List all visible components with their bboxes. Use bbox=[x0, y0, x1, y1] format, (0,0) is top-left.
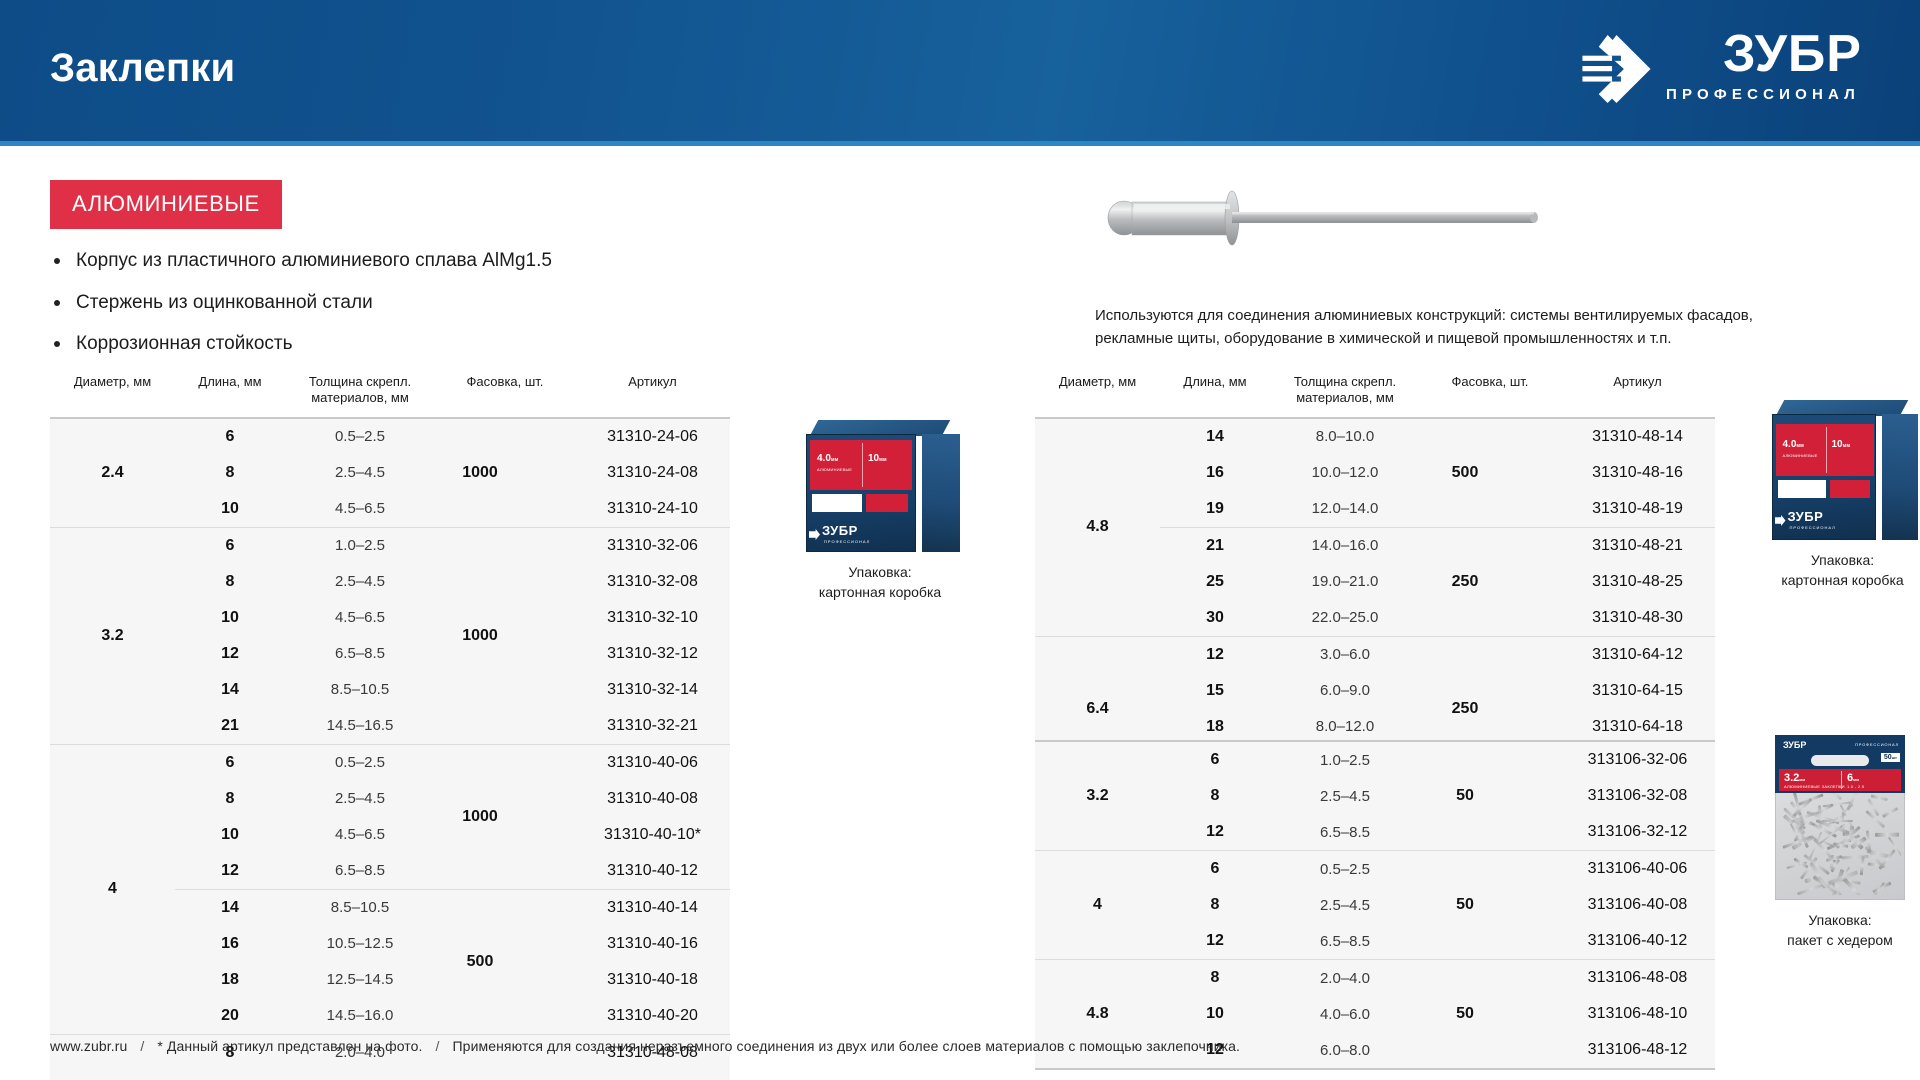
feature-list: Корпус из пластичного алюминиевого сплав… bbox=[54, 248, 754, 373]
cell-length: 10 bbox=[175, 609, 285, 627]
cell-length: 30 bbox=[1160, 609, 1270, 627]
cell-article: 313106-32-12 bbox=[1560, 823, 1715, 841]
column-header-diameter: Диаметр, мм bbox=[1035, 374, 1160, 407]
column-header-article: Артикул bbox=[1560, 374, 1715, 407]
table-body: 4.8148.0–10.031310-48-141610.0–12.031310… bbox=[1035, 417, 1715, 783]
cell-diameter: 4 bbox=[1035, 851, 1160, 959]
table-subgroup: 60.5–2.531310-40-0682.5–4.531310-40-0810… bbox=[175, 745, 730, 890]
package-caption-line-2: картонная коробка bbox=[760, 582, 1000, 602]
cell-length: 6 bbox=[175, 428, 285, 446]
column-header-packing: Фасовка, шт. bbox=[1420, 374, 1560, 407]
footer-site[interactable]: www.zubr.ru bbox=[50, 1038, 127, 1054]
package-figure-bag: ЗУБР ПРОФЕССИОНАЛ 50шт 3.2мм 6мм АЛЮМИНИ… bbox=[1740, 735, 1920, 951]
package-caption-line-1: Упаковка: bbox=[760, 562, 1000, 582]
cell-article: 31310-48-16 bbox=[1560, 464, 1715, 482]
rivet-pin bbox=[1842, 856, 1869, 860]
footer-separator-1: / bbox=[140, 1038, 144, 1054]
cell-article: 31310-32-14 bbox=[575, 681, 730, 699]
bag-brand: ЗУБР bbox=[1783, 740, 1806, 750]
cell-article: 31310-32-21 bbox=[575, 717, 730, 735]
bullet-dot-icon bbox=[54, 258, 60, 264]
cell-article: 31310-24-06 bbox=[575, 428, 730, 446]
column-header-diameter: Диаметр, мм bbox=[50, 374, 175, 407]
cell-length: 18 bbox=[175, 971, 285, 989]
cell-article: 313106-32-08 bbox=[1560, 787, 1715, 805]
thickness-line-1: Толщина скрепл. bbox=[285, 374, 435, 390]
table-group: 460.5–2.5313106-40-0682.5–4.5313106-40-0… bbox=[1035, 851, 1715, 960]
category-badge: АЛЮМИНИЕВЫЕ bbox=[50, 180, 282, 229]
column-header-packing: Фасовка, шт. bbox=[435, 374, 575, 407]
column-header-thickness: Толщина скрепл. материалов, мм bbox=[1270, 374, 1420, 407]
rivet-pin bbox=[1883, 807, 1899, 818]
cell-length: 21 bbox=[1160, 537, 1270, 555]
table-subgroup: 148.5–10.531310-40-141610.5–12.531310-40… bbox=[175, 890, 730, 1034]
cell-length: 6 bbox=[1160, 860, 1270, 878]
package-figure-box-2: 4.0мм 10мм АЛЮМИНИЕВЫЕ ЗУБР ПРОФЕССИОНАЛ… bbox=[1745, 400, 1920, 591]
bullet-dot-icon bbox=[54, 300, 60, 306]
cell-length: 25 bbox=[1160, 573, 1270, 591]
package-caption: Упаковка: пакет с хедером bbox=[1740, 910, 1920, 951]
cell-length: 14 bbox=[175, 899, 285, 917]
cell-length: 10 bbox=[175, 500, 285, 518]
package-caption-line-1: Упаковка: bbox=[1740, 910, 1920, 930]
cell-length: 14 bbox=[175, 681, 285, 699]
cell-length: 18 bbox=[1160, 718, 1270, 736]
cell-article: 31310-48-30 bbox=[1560, 609, 1715, 627]
column-header-length: Длина, мм bbox=[175, 374, 285, 407]
cell-article: 313106-48-10 bbox=[1560, 1005, 1715, 1023]
cell-packing: 50 bbox=[1395, 742, 1535, 850]
table-subgroup: 61.0–2.5313106-32-0682.5–4.5313106-32-08… bbox=[1160, 742, 1715, 850]
cell-length: 12 bbox=[175, 645, 285, 663]
cell-packing: 50 bbox=[1395, 960, 1535, 1068]
cell-length: 6 bbox=[1160, 751, 1270, 769]
table-subgroup: 2114.0–16.031310-48-212519.0–21.031310-4… bbox=[1160, 528, 1715, 636]
polybag-image: ЗУБР ПРОФЕССИОНАЛ 50шт 3.2мм 6мм АЛЮМИНИ… bbox=[1775, 735, 1905, 900]
thickness-line-2: материалов, мм bbox=[1270, 390, 1420, 406]
column-header-article: Артикул bbox=[575, 374, 730, 407]
cardboard-box-image: 4.0мм 10мм АЛЮМИНИЕВЫЕ ЗУБР ПРОФЕССИОНАЛ bbox=[800, 420, 960, 552]
table-body: 2.460.5–2.531310-24-0682.5–4.531310-24-0… bbox=[50, 417, 730, 1080]
bag-quantity: 50шт bbox=[1881, 753, 1900, 762]
table-subgroup: 60.5–2.531310-24-0682.5–4.531310-24-0810… bbox=[175, 419, 730, 527]
cell-packing: 250 bbox=[1395, 528, 1535, 636]
cell-packing: 1000 bbox=[410, 419, 550, 527]
cell-length: 21 bbox=[175, 717, 285, 735]
list-item: Коррозионная стойкость bbox=[54, 331, 754, 357]
cell-length: 19 bbox=[1160, 500, 1270, 518]
table-subgroup: 148.0–10.031310-48-141610.0–12.031310-48… bbox=[1160, 419, 1715, 528]
bag-material-label: АЛЮМИНИЕВЫЕ ЗАКЛЕПКИ bbox=[1784, 784, 1845, 789]
cell-length: 12 bbox=[1160, 646, 1270, 664]
package-caption-line-2: пакет с хедером bbox=[1740, 930, 1920, 950]
package-figure-box-1: 4.0мм 10мм АЛЮМИНИЕВЫЕ ЗУБР ПРОФЕССИОНАЛ… bbox=[760, 420, 1000, 603]
cell-article: 31310-40-08 bbox=[575, 790, 730, 808]
package-caption: Упаковка: картонная коробка bbox=[760, 562, 1000, 603]
cell-diameter: 3.2 bbox=[50, 528, 175, 744]
cell-diameter: 3.2 bbox=[1035, 742, 1160, 850]
header-accent-line bbox=[0, 141, 1920, 146]
page-header: Заклепки ЗУБР ПРОФЕССИОНАЛ bbox=[0, 0, 1920, 146]
cell-length: 14 bbox=[1160, 428, 1270, 446]
table-header-row: Диаметр, мм Длина, мм Толщина скрепл. ма… bbox=[50, 374, 730, 417]
cell-length: 16 bbox=[175, 935, 285, 953]
rivet-pin bbox=[1879, 849, 1896, 870]
cell-packing: 1000 bbox=[410, 745, 550, 889]
cell-article: 31310-48-14 bbox=[1560, 428, 1715, 446]
table-header-row: Диаметр, мм Длина, мм Толщина скрепл. ма… bbox=[1035, 374, 1715, 417]
cell-length: 12 bbox=[1160, 823, 1270, 841]
cell-article: 31310-64-18 bbox=[1560, 718, 1715, 736]
cell-packing: 50 bbox=[1395, 851, 1535, 959]
zubr-arrow-logo-icon bbox=[1578, 32, 1652, 106]
thickness-line-2: материалов, мм bbox=[285, 390, 435, 406]
table-aluminium-left: Диаметр, мм Длина, мм Толщина скрепл. ма… bbox=[50, 374, 730, 1080]
cell-length: 10 bbox=[175, 826, 285, 844]
cell-length: 8 bbox=[175, 573, 285, 591]
rivet-pin bbox=[1842, 877, 1865, 895]
cell-article: 313106-40-08 bbox=[1560, 896, 1715, 914]
brand-name: ЗУБР bbox=[1723, 30, 1862, 79]
cell-article: 31310-32-06 bbox=[575, 537, 730, 555]
cell-length: 16 bbox=[1160, 464, 1270, 482]
cell-diameter: 2.4 bbox=[50, 419, 175, 527]
table-aluminium-right-bottom: 3.261.0–2.5313106-32-0682.5–4.5313106-32… bbox=[1035, 740, 1715, 1070]
cell-length: 8 bbox=[175, 464, 285, 482]
catalog-page: Заклепки ЗУБР ПРОФЕССИОНАЛ АЛЮМИНИЕВЫЕ bbox=[0, 0, 1920, 1080]
cell-article: 31310-40-18 bbox=[575, 971, 730, 989]
brand-logo: ЗУБР ПРОФЕССИОНАЛ bbox=[1578, 30, 1862, 106]
cell-article: 31310-24-10 bbox=[575, 500, 730, 518]
table-group: 3.261.0–2.531310-32-0682.5–4.531310-32-0… bbox=[50, 528, 730, 745]
footer-separator-2: / bbox=[436, 1038, 440, 1054]
footer-note-1: * Данный артикул представлен на фото. bbox=[157, 1038, 422, 1054]
cell-article: 31310-64-12 bbox=[1560, 646, 1715, 664]
table-subgroup: 61.0–2.531310-32-0682.5–4.531310-32-0810… bbox=[175, 528, 730, 744]
cell-length: 8 bbox=[1160, 969, 1270, 987]
cell-article: 31310-40-06 bbox=[575, 754, 730, 772]
usage-description: Используются для соединения алюминиевых … bbox=[1095, 305, 1825, 350]
footer-note: www.zubr.ru / * Данный артикул представл… bbox=[50, 1038, 1240, 1054]
package-caption: Упаковка: картонная коробка bbox=[1745, 550, 1920, 591]
table-group: 3.261.0–2.5313106-32-0682.5–4.5313106-32… bbox=[1035, 742, 1715, 851]
table-group: 4.8148.0–10.031310-48-141610.0–12.031310… bbox=[1035, 419, 1715, 637]
cell-article: 31310-32-10 bbox=[575, 609, 730, 627]
rivet-pin bbox=[1860, 856, 1865, 875]
cell-packing: 1000 bbox=[410, 528, 550, 744]
cell-article: 313106-32-06 bbox=[1560, 751, 1715, 769]
cell-article: 31310-48-25 bbox=[1560, 573, 1715, 591]
thickness-line-1: Толщина скрепл. bbox=[1270, 374, 1420, 390]
list-item: Корпус из пластичного алюминиевого сплав… bbox=[54, 248, 754, 274]
feature-text: Коррозионная стойкость bbox=[76, 331, 293, 357]
feature-text: Корпус из пластичного алюминиевого сплав… bbox=[76, 248, 552, 274]
bag-diameter-label: 3.2мм bbox=[1784, 772, 1805, 784]
table-body: 3.261.0–2.5313106-32-0682.5–4.5313106-32… bbox=[1035, 740, 1715, 1070]
cell-article: 31310-32-12 bbox=[575, 645, 730, 663]
cardboard-box-image: 4.0мм 10мм АЛЮМИНИЕВЫЕ ЗУБР ПРОФЕССИОНАЛ bbox=[1768, 400, 1918, 540]
page-title: Заклепки bbox=[50, 46, 235, 91]
cell-packing: 500 bbox=[1395, 419, 1535, 527]
cell-length: 20 bbox=[175, 1007, 285, 1025]
cell-length: 12 bbox=[175, 862, 285, 880]
column-header-thickness: Толщина скрепл. материалов, мм bbox=[285, 374, 435, 407]
table-group: 460.5–2.531310-40-0682.5–4.531310-40-081… bbox=[50, 745, 730, 1035]
cell-article: 313106-40-06 bbox=[1560, 860, 1715, 878]
cell-article: 313106-48-12 bbox=[1560, 1041, 1715, 1059]
package-caption-line-1: Упаковка: bbox=[1745, 550, 1920, 570]
cell-article: 31310-40-16 bbox=[575, 935, 730, 953]
cell-article: 31310-48-19 bbox=[1560, 500, 1715, 518]
brand-subtitle: ПРОФЕССИОНАЛ bbox=[1666, 86, 1860, 103]
cell-diameter: 4.8 bbox=[1035, 419, 1160, 636]
rivet-pin bbox=[1829, 793, 1841, 801]
table-subgroup: 82.0–4.0313106-48-08104.0–6.0313106-48-1… bbox=[1160, 960, 1715, 1068]
cell-article: 31310-32-08 bbox=[575, 573, 730, 591]
rivet-pile bbox=[1779, 793, 1901, 895]
cell-packing: 500 bbox=[410, 890, 550, 1034]
rivet-pin bbox=[1871, 794, 1888, 801]
rivet-photo bbox=[1080, 176, 1580, 246]
cell-article: 31310-40-10* bbox=[575, 826, 730, 844]
bag-length-label: 6мм bbox=[1847, 772, 1859, 784]
cell-length: 10 bbox=[1160, 1005, 1270, 1023]
cell-length: 6 bbox=[175, 537, 285, 555]
cell-article: 31310-40-14 bbox=[575, 899, 730, 917]
cell-article: 313106-48-08 bbox=[1560, 969, 1715, 987]
package-caption-line-2: картонная коробка bbox=[1745, 570, 1920, 590]
cell-length: 8 bbox=[1160, 896, 1270, 914]
cell-length: 15 bbox=[1160, 682, 1270, 700]
cell-article: 31310-40-20 bbox=[575, 1007, 730, 1025]
cell-article: 31310-64-15 bbox=[1560, 682, 1715, 700]
list-item: Стержень из оцинкованной стали bbox=[54, 290, 754, 316]
cell-article: 31310-40-12 bbox=[575, 862, 730, 880]
cell-length: 12 bbox=[1160, 932, 1270, 950]
footer-note-2: Применяются для создания неразъемного со… bbox=[453, 1038, 1241, 1054]
cell-length: 8 bbox=[175, 790, 285, 808]
cell-length: 8 bbox=[1160, 787, 1270, 805]
column-header-length: Длина, мм bbox=[1160, 374, 1270, 407]
table-subgroup: 60.5–2.5313106-40-0682.5–4.5313106-40-08… bbox=[1160, 851, 1715, 959]
feature-text: Стержень из оцинкованной стали bbox=[76, 290, 373, 316]
cell-length: 6 bbox=[175, 754, 285, 772]
rivet-pin bbox=[1875, 833, 1899, 837]
cell-article: 313106-40-12 bbox=[1560, 932, 1715, 950]
cell-article: 31310-48-21 bbox=[1560, 537, 1715, 555]
cell-article: 31310-24-08 bbox=[575, 464, 730, 482]
table-aluminium-right-top: Диаметр, мм Длина, мм Толщина скрепл. ма… bbox=[1035, 374, 1715, 783]
cell-diameter: 4 bbox=[50, 745, 175, 1034]
bullet-dot-icon bbox=[54, 341, 60, 347]
bag-range-label: 1.0 - 2.5 bbox=[1847, 784, 1864, 789]
bag-brand-sub: ПРОФЕССИОНАЛ bbox=[1855, 742, 1899, 747]
table-group: 2.460.5–2.531310-24-0682.5–4.531310-24-0… bbox=[50, 419, 730, 528]
